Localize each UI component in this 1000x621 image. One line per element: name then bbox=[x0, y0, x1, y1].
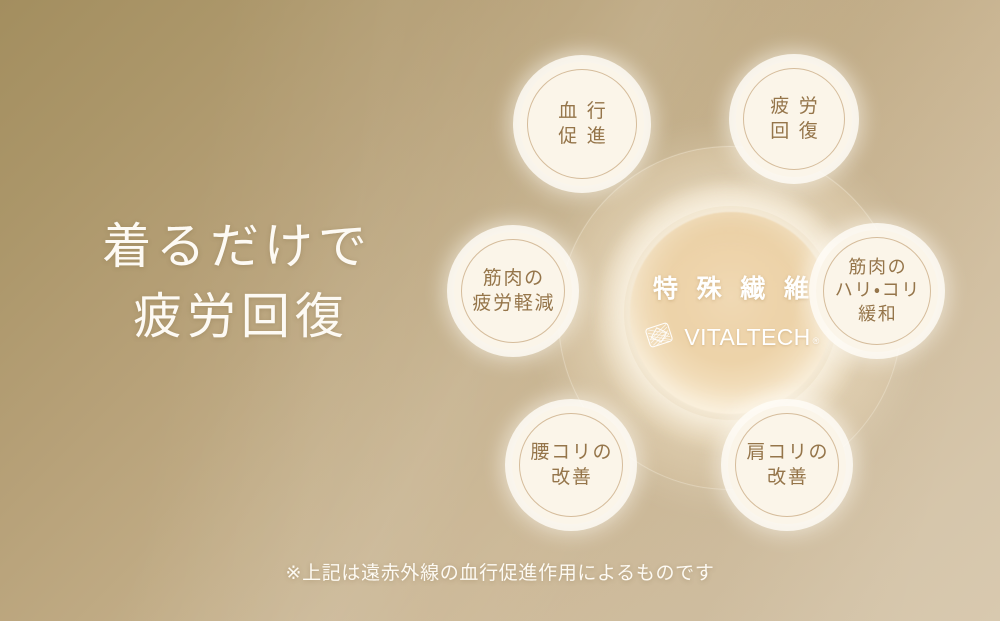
benefit-bubble-muscle-stiffness-relief[interactable]: 筋肉の ハリ・コリ 緩和 bbox=[816, 230, 938, 352]
benefit-bubble-blood-circulation[interactable]: 血 行 促 進 bbox=[520, 62, 644, 186]
registered-trademark-symbol: ® bbox=[813, 336, 820, 346]
brand-lockup: VITALTECH® bbox=[642, 318, 819, 357]
benefit-bubble-lower-back-stiffness[interactable]: 腰コリの 改善 bbox=[512, 406, 630, 524]
benefit-line-1: 筋肉の bbox=[471, 266, 556, 291]
benefit-line-2: 疲労軽減 bbox=[471, 291, 556, 316]
center-label-group: 特 殊 繊 維 bbox=[630, 212, 832, 414]
benefit-line-2: 回 復 bbox=[769, 119, 820, 144]
headline-line-1: 着るだけで bbox=[72, 212, 402, 282]
benefit-label: 腰コリの 改善 bbox=[529, 440, 614, 489]
benefit-line-1: 筋肉の bbox=[833, 256, 921, 279]
benefit-line-2: 改善 bbox=[529, 465, 614, 490]
promo-banner: 着るだけで 疲労回復 特 殊 繊 維 bbox=[0, 0, 1000, 621]
benefit-line-1: 肩コリの bbox=[745, 440, 830, 465]
benefit-label: 疲 労 回 復 bbox=[769, 94, 820, 143]
benefit-line-1: 腰コリの bbox=[529, 440, 614, 465]
vitaltech-diamond-weave-icon bbox=[642, 318, 676, 357]
benefit-label: 血 行 促 進 bbox=[557, 99, 608, 148]
benefit-line-1: 疲 労 bbox=[769, 94, 820, 119]
headline: 着るだけで 疲労回復 bbox=[72, 212, 402, 351]
benefit-bubble-fatigue-recovery[interactable]: 疲 労 回 復 bbox=[736, 61, 852, 177]
benefits-diagram: 特 殊 繊 維 bbox=[520, 108, 940, 528]
center-title: 特 殊 繊 維 bbox=[648, 269, 814, 305]
headline-line-2: 疲労回復 bbox=[72, 282, 402, 352]
footnote-disclaimer: ※上記は遠赤外線の血行促進作用によるものです bbox=[0, 558, 1000, 585]
brand-name: VITALTECH® bbox=[684, 324, 819, 351]
brand-name-text: VITALTECH bbox=[684, 324, 810, 351]
benefit-label: 肩コリの 改善 bbox=[745, 440, 830, 489]
benefit-label: 筋肉の 疲労軽減 bbox=[471, 266, 556, 315]
benefit-label: 筋肉の ハリ・コリ 緩和 bbox=[833, 256, 921, 325]
benefit-line-2: 促 進 bbox=[557, 124, 608, 149]
benefit-line-2: ハリ・コリ bbox=[833, 279, 921, 302]
benefit-bubble-muscle-fatigue-relief[interactable]: 筋肉の 疲労軽減 bbox=[454, 232, 572, 350]
benefit-line-2: 改善 bbox=[745, 465, 830, 490]
benefit-line-1: 血 行 bbox=[557, 99, 608, 124]
benefit-line-3: 緩和 bbox=[833, 303, 921, 326]
benefit-bubble-shoulder-stiffness[interactable]: 肩コリの 改善 bbox=[728, 406, 846, 524]
